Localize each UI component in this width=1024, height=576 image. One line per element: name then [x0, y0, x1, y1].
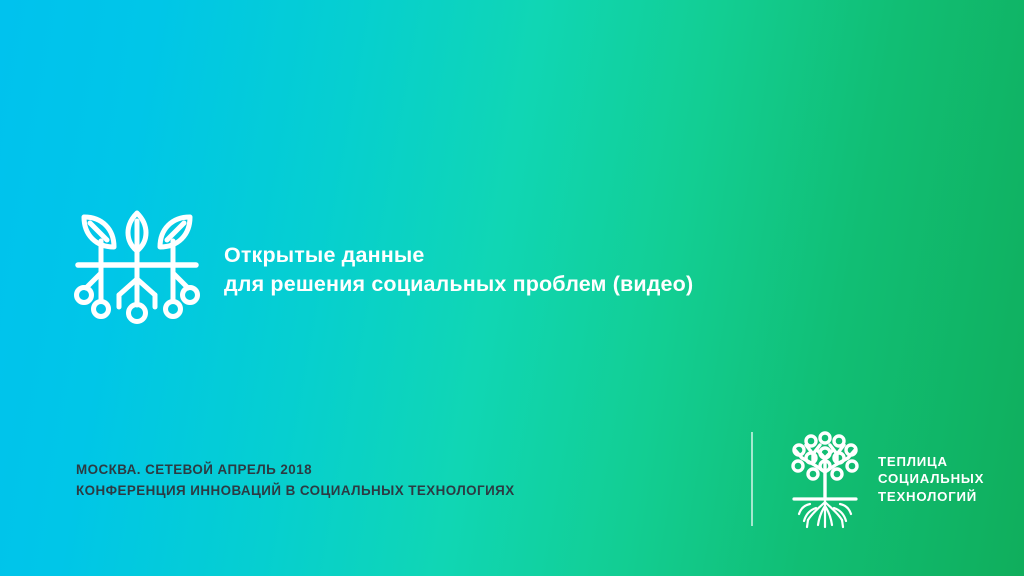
footer-brand-lockup: ТЕПЛИЦА СОЦИАЛЬНЫХ ТЕХНОЛОГИЙ — [786, 428, 984, 530]
brand-line-2: СОЦИАЛЬНЫХ — [878, 470, 984, 488]
brand-line-1: ТЕПЛИЦА — [878, 453, 984, 471]
sprout-network-icon — [73, 203, 201, 328]
vertical-divider — [751, 432, 753, 526]
title-line-2: для решения социальных проблем (видео) — [224, 270, 844, 299]
caption-line-1: МОСКВА. СЕТЕВОЙ АПРЕЛЬ 2018 — [76, 459, 696, 480]
event-caption: МОСКВА. СЕТЕВОЙ АПРЕЛЬ 2018 КОНФЕРЕНЦИЯ … — [76, 459, 696, 501]
caption-line-2: КОНФЕРЕНЦИЯ ИННОВАЦИЙ В СОЦИАЛЬНЫХ ТЕХНО… — [76, 480, 696, 501]
brand-line-3: ТЕХНОЛОГИЙ — [878, 488, 984, 506]
page-title: Открытые данные для решения социальных п… — [224, 241, 844, 299]
brand-name: ТЕПЛИЦА СОЦИАЛЬНЫХ ТЕХНОЛОГИЙ — [878, 453, 984, 506]
network-tree-icon — [786, 428, 864, 530]
slide-canvas: Открытые данные для решения социальных п… — [0, 0, 1024, 576]
title-line-1: Открытые данные — [224, 241, 844, 270]
